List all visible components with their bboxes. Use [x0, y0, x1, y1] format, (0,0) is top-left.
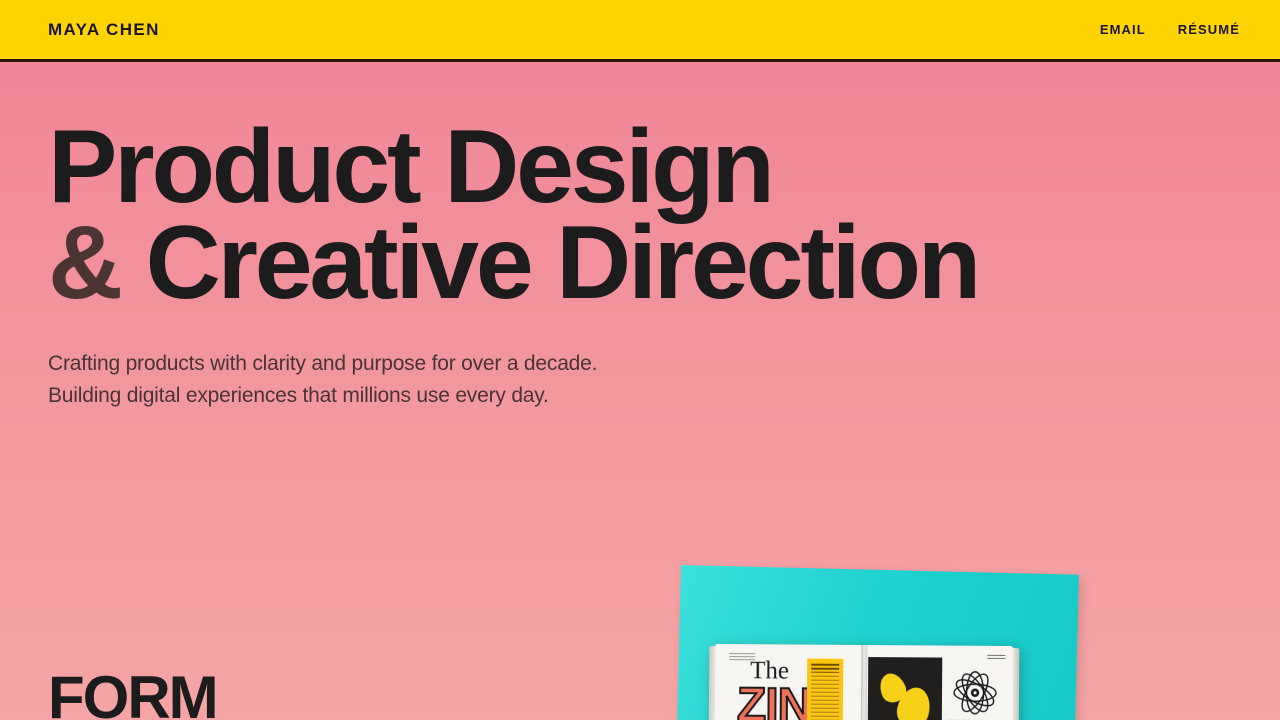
magazine-artwork: The ZIN [660, 550, 1120, 720]
subhead-line-2: Building digital experiences that millio… [48, 380, 1048, 412]
column-body-lines-icon [811, 676, 839, 720]
site-logo-wordmark[interactable]: MAYA CHEN [48, 21, 160, 38]
yellow-text-column [807, 659, 844, 720]
page-title: Product Design & Creative Direction [48, 118, 1048, 314]
hero-section: Product Design & Creative Direction Craf… [48, 118, 1048, 411]
open-book: The ZIN [715, 644, 1014, 720]
section-heading-form: FORM [48, 668, 217, 720]
nav-link-email[interactable]: EMAIL [1100, 23, 1146, 36]
headline-line-1: Product Design [48, 118, 1048, 218]
page-number-icon [987, 655, 1005, 660]
book-page-left: The ZIN [715, 644, 865, 720]
top-navigation-bar: MAYA CHEN EMAIL RÉSUMÉ [0, 0, 1280, 62]
nav-links-group: EMAIL RÉSUMÉ [1100, 23, 1240, 36]
book-page-right [864, 645, 1014, 720]
headline-line-2-text: Creative Direction [120, 205, 978, 321]
subhead-line-1: Crafting products with clarity and purpo… [48, 348, 1048, 380]
column-heading-lines-icon [811, 664, 839, 673]
atom-orbital-icon [952, 670, 998, 716]
headline-line-2: & Creative Direction [48, 214, 1048, 314]
book-spine [861, 645, 868, 720]
hero-subheading: Crafting products with clarity and purpo… [48, 348, 1048, 412]
nav-link-resume[interactable]: RÉSUMÉ [1178, 23, 1240, 36]
black-illustration-panel [868, 657, 943, 720]
magazine-title-display: ZIN [737, 682, 812, 720]
ampersand-glyph: & [48, 205, 120, 321]
